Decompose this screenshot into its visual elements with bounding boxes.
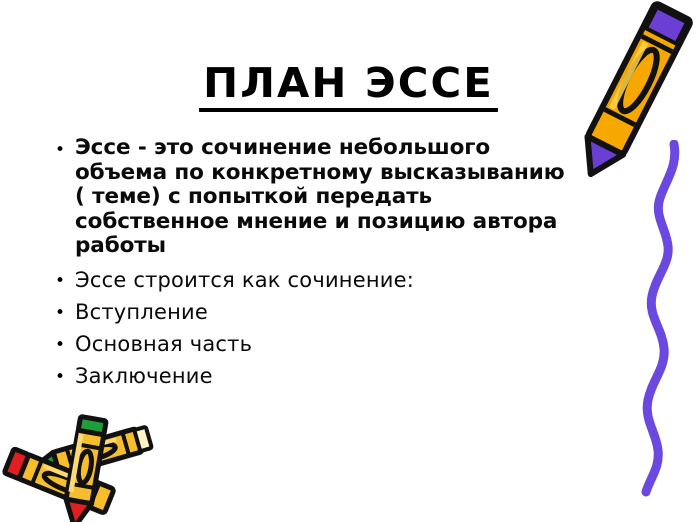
list-item: • Эссе - это сочинение небольшого объема… [55,136,635,259]
crossed-crayons-icon [0,412,196,522]
crayon-body [66,428,104,503]
list-item-text: Вступление [75,300,635,325]
list-item-line: ( теме) с попыткой передать [75,184,432,209]
list-item: • Основная часть [55,332,635,357]
list-item-line: объема по конкретному высказыванию [75,160,565,185]
purple-squiggle-line [626,140,696,500]
crayon-tip-green [24,452,59,483]
list-item: • Заключение [55,364,635,389]
crayon-vertical [62,416,107,522]
list-item: • Вступление [55,300,635,325]
bullet-marker-icon: • [55,364,75,386]
list-item-text: Эссе строится как сочинение: [75,268,635,293]
list-item-text: Заключение [75,364,635,389]
slide-canvas: ПЛАН ЭССЕ • Эссе - это сочинение небольш… [0,0,696,522]
page-title: ПЛАН ЭССЕ [199,62,498,112]
bullet-marker-icon: • [55,268,75,290]
bullet-marker-icon: • [55,136,75,159]
crayon-label-oval [613,45,663,116]
list-spacer [55,261,635,268]
crayon-body [53,429,142,476]
list-item-line: собственное мнение и позицию автора [75,209,557,234]
list-item: • Эссе строится как сочинение: [55,268,635,293]
list-item-text: Эссе - это сочинение небольшого объема п… [75,136,635,259]
bullet-marker-icon: • [55,300,75,322]
crayon-top-band [646,7,687,44]
crayon-tip-red [62,499,92,522]
crayon-body [587,3,691,155]
squiggle-path [646,144,675,492]
list-item-line: Эссе - это сочинение небольшого [75,135,490,160]
crayon-red [4,449,114,514]
crayon-body [17,454,114,513]
list-item-line: работы [75,233,166,258]
bullet-list: • Эссе - это сочинение небольшого объема… [55,136,635,396]
crayon-top-green [78,416,106,434]
list-item-text: Основная часть [75,332,635,357]
crayon-end-red [4,449,29,479]
title-block: ПЛАН ЭССЕ [0,62,696,112]
crayon-green [24,426,152,484]
bullet-marker-icon: • [55,332,75,354]
